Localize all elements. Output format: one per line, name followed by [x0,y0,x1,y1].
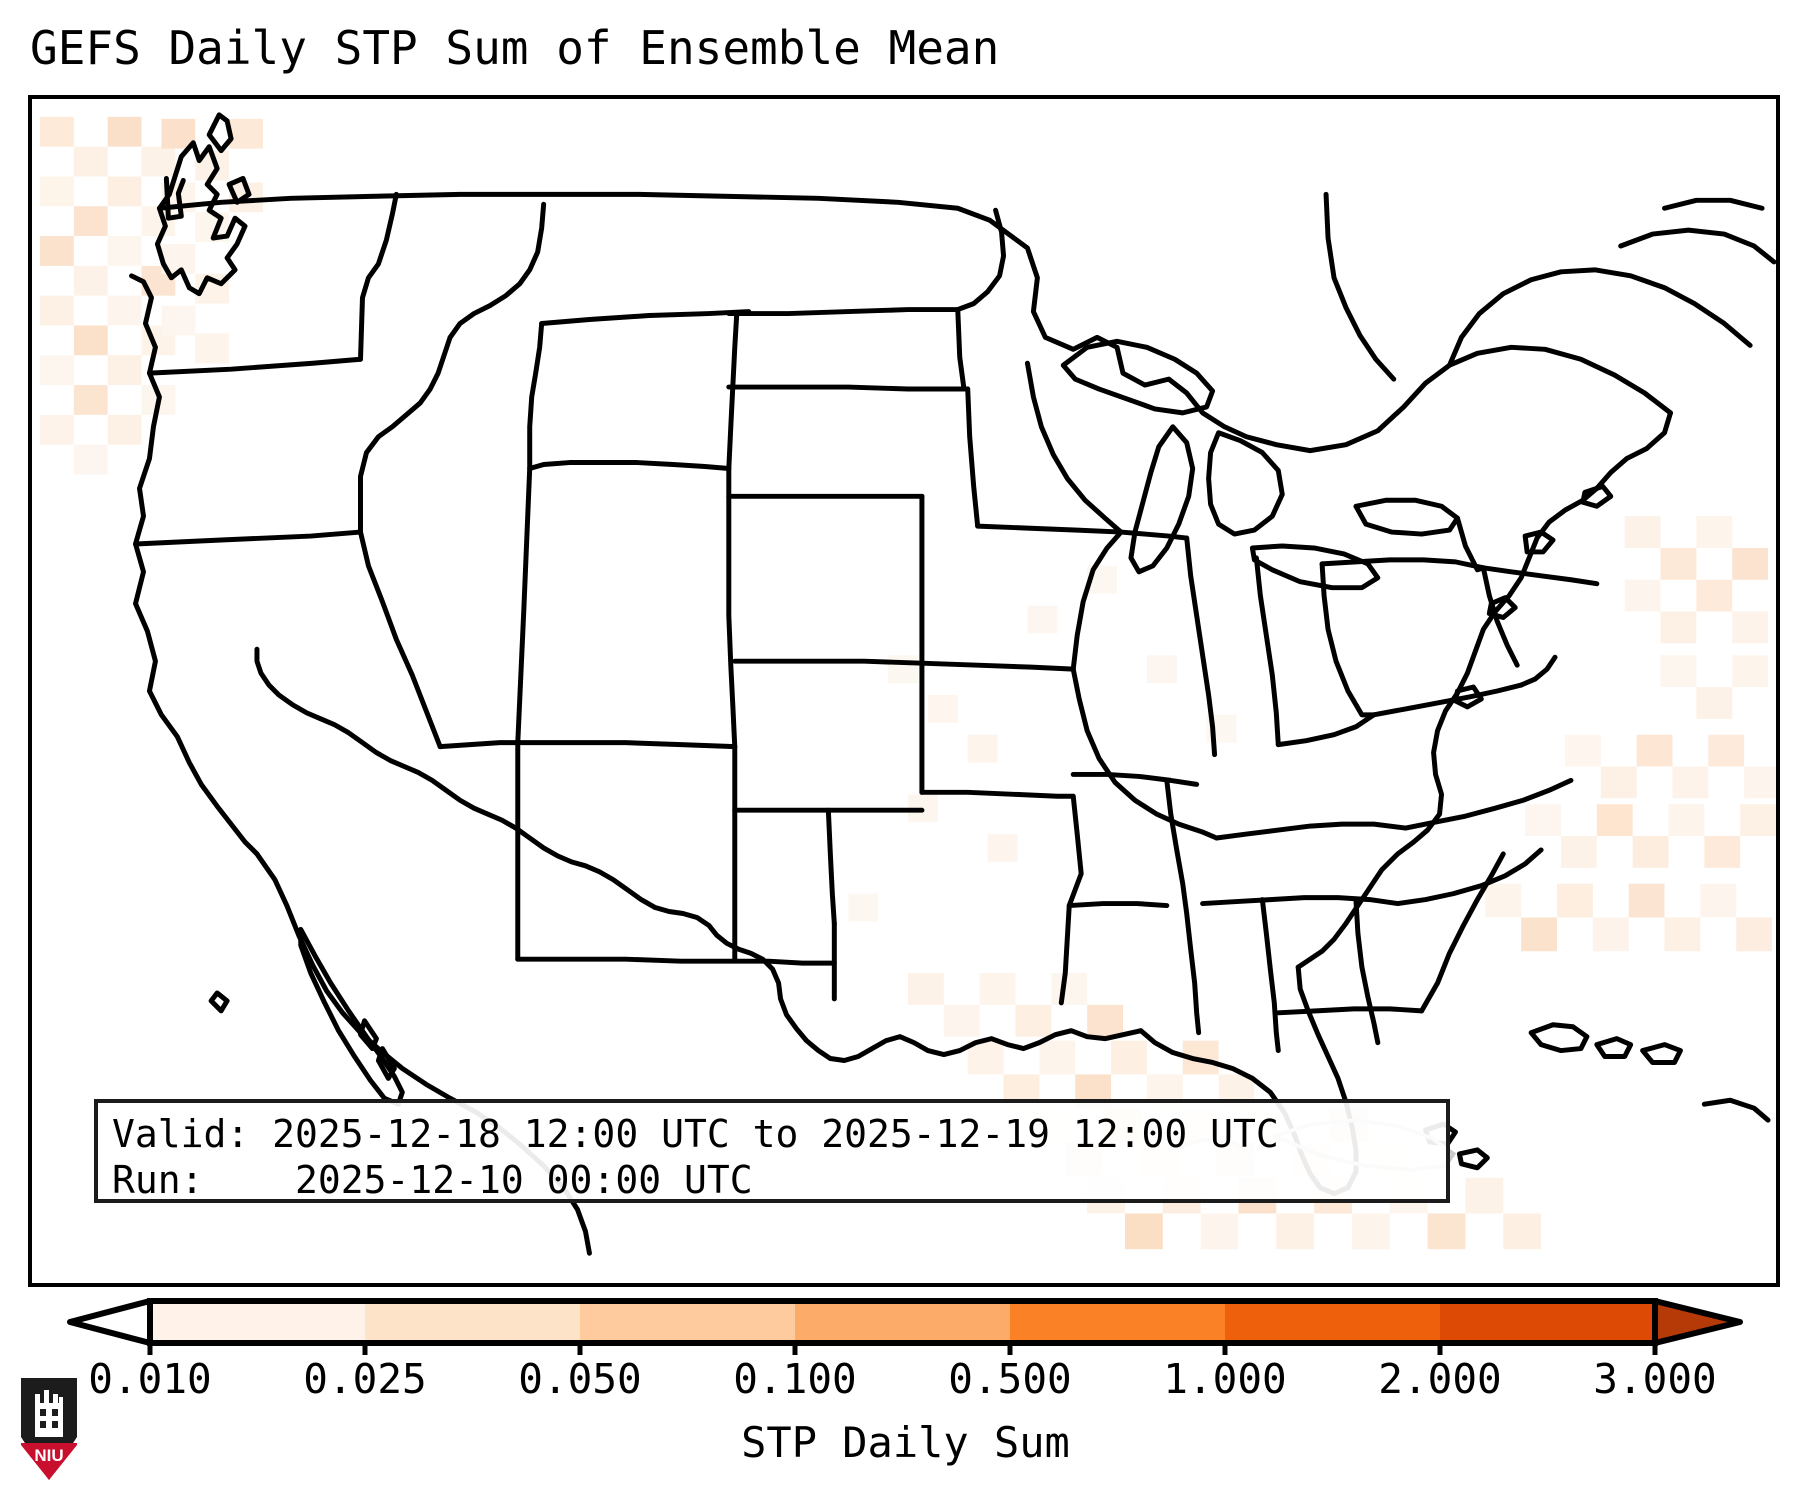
map-figure: GEFS Daily STP Sum of Ensemble Mean [0,0,1803,1500]
niu-logo: NIU [18,1375,80,1483]
colorbar-tick-label-4: 0.500 [948,1355,1071,1403]
colorbar-tick-label-1: 0.025 [303,1355,426,1403]
colorbar-axis-label: STP Daily Sum [0,1418,1803,1468]
colorbar-band-2 [365,1301,580,1343]
colorbar-tick-label-5: 1.000 [1163,1355,1286,1403]
map-frame: Valid: 2025-12-18 12:00 UTC to 2025-12-1… [28,95,1780,1287]
colorbar-band-5 [1010,1301,1225,1343]
page-title: GEFS Daily STP Sum of Ensemble Mean [30,22,999,74]
colorbar-band-7 [1440,1301,1655,1343]
colorbar-over-arrow [1655,1301,1740,1343]
colorbar-axis-label-text: STP Daily Sum [733,1418,1070,1467]
colorbar-band-3 [580,1301,795,1343]
colorbar-band-1 [150,1301,365,1343]
colorbar-tick-label-2: 0.050 [518,1355,641,1403]
run-time-line: Run: 2025-12-10 00:00 UTC [112,1157,1432,1203]
colorbar-tick-labels: 0.010 0.025 0.050 0.100 0.500 1.000 2.00… [0,1355,1803,1415]
niu-tower-body [35,1403,63,1437]
niu-wordmark: NIU [34,1446,63,1465]
colorbar-tick-label-0: 0.010 [88,1355,211,1403]
colorbar-tick-label-3: 0.100 [733,1355,856,1403]
colorbar-tick-label-7: 3.000 [1593,1355,1716,1403]
colorbar-under-arrow [70,1301,150,1343]
colorbar[interactable] [0,1295,1803,1355]
valid-time-line: Valid: 2025-12-18 12:00 UTC to 2025-12-1… [112,1111,1432,1157]
info-box: Valid: 2025-12-18 12:00 UTC to 2025-12-1… [94,1099,1450,1203]
colorbar-band-4 [795,1301,1010,1343]
colorbar-band-6 [1225,1301,1440,1343]
colorbar-tick-label-6: 2.000 [1378,1355,1501,1403]
